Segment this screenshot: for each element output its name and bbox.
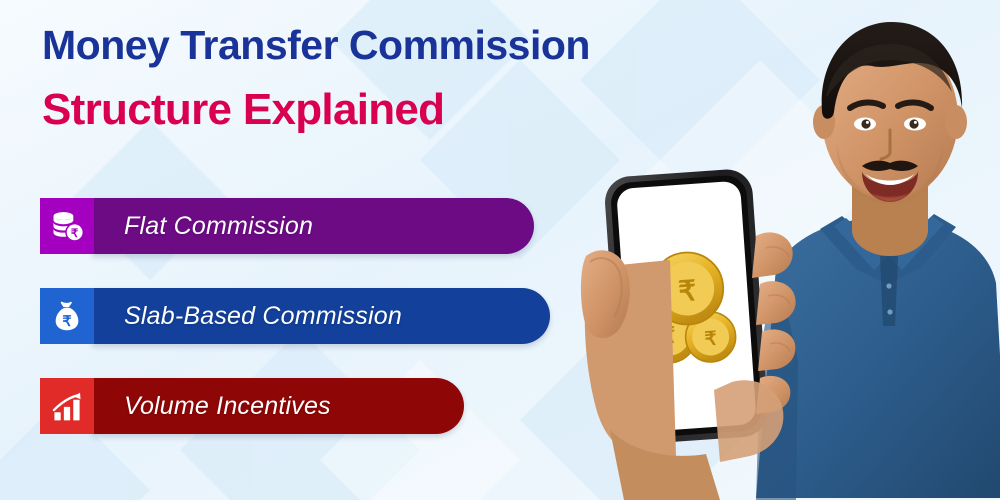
hero-photo-man-with-phone: ₹ ₹ ₹: [580, 0, 1000, 500]
feature-pill-body: Volume Incentives: [92, 378, 464, 434]
feature-item-flat-commission[interactable]: ₹ Flat Commission: [40, 198, 550, 254]
feature-pill-body: Flat Commission: [92, 198, 534, 254]
money-bag-rupee-icon: ₹: [40, 288, 94, 344]
svg-text:₹: ₹: [62, 314, 71, 330]
feature-pill-body: Slab-Based Commission: [92, 288, 550, 344]
feature-label: Volume Incentives: [124, 392, 331, 421]
promotional-banner: Money Transfer Commission Structure Expl…: [0, 0, 1000, 500]
headline-block: Money Transfer Commission Structure Expl…: [42, 22, 590, 135]
svg-text:₹: ₹: [71, 227, 79, 240]
svg-text:₹: ₹: [677, 275, 697, 307]
headline-line-2: Structure Explained: [42, 84, 590, 135]
feature-label: Flat Commission: [124, 212, 313, 241]
face: [813, 22, 967, 204]
svg-text:₹: ₹: [704, 329, 718, 351]
feature-label: Slab-Based Commission: [124, 302, 402, 331]
growth-bar-chart-icon: [40, 378, 94, 434]
feature-item-slab-based-commission[interactable]: ₹ Slab-Based Commission: [40, 288, 550, 344]
feature-item-volume-incentives[interactable]: Volume Incentives: [40, 378, 550, 434]
coin-stack-rupee-icon: ₹: [40, 198, 94, 254]
headline-line-1: Money Transfer Commission: [42, 22, 590, 70]
feature-list: ₹ Flat Commission ₹ Slab-Based Commissio…: [40, 198, 550, 434]
